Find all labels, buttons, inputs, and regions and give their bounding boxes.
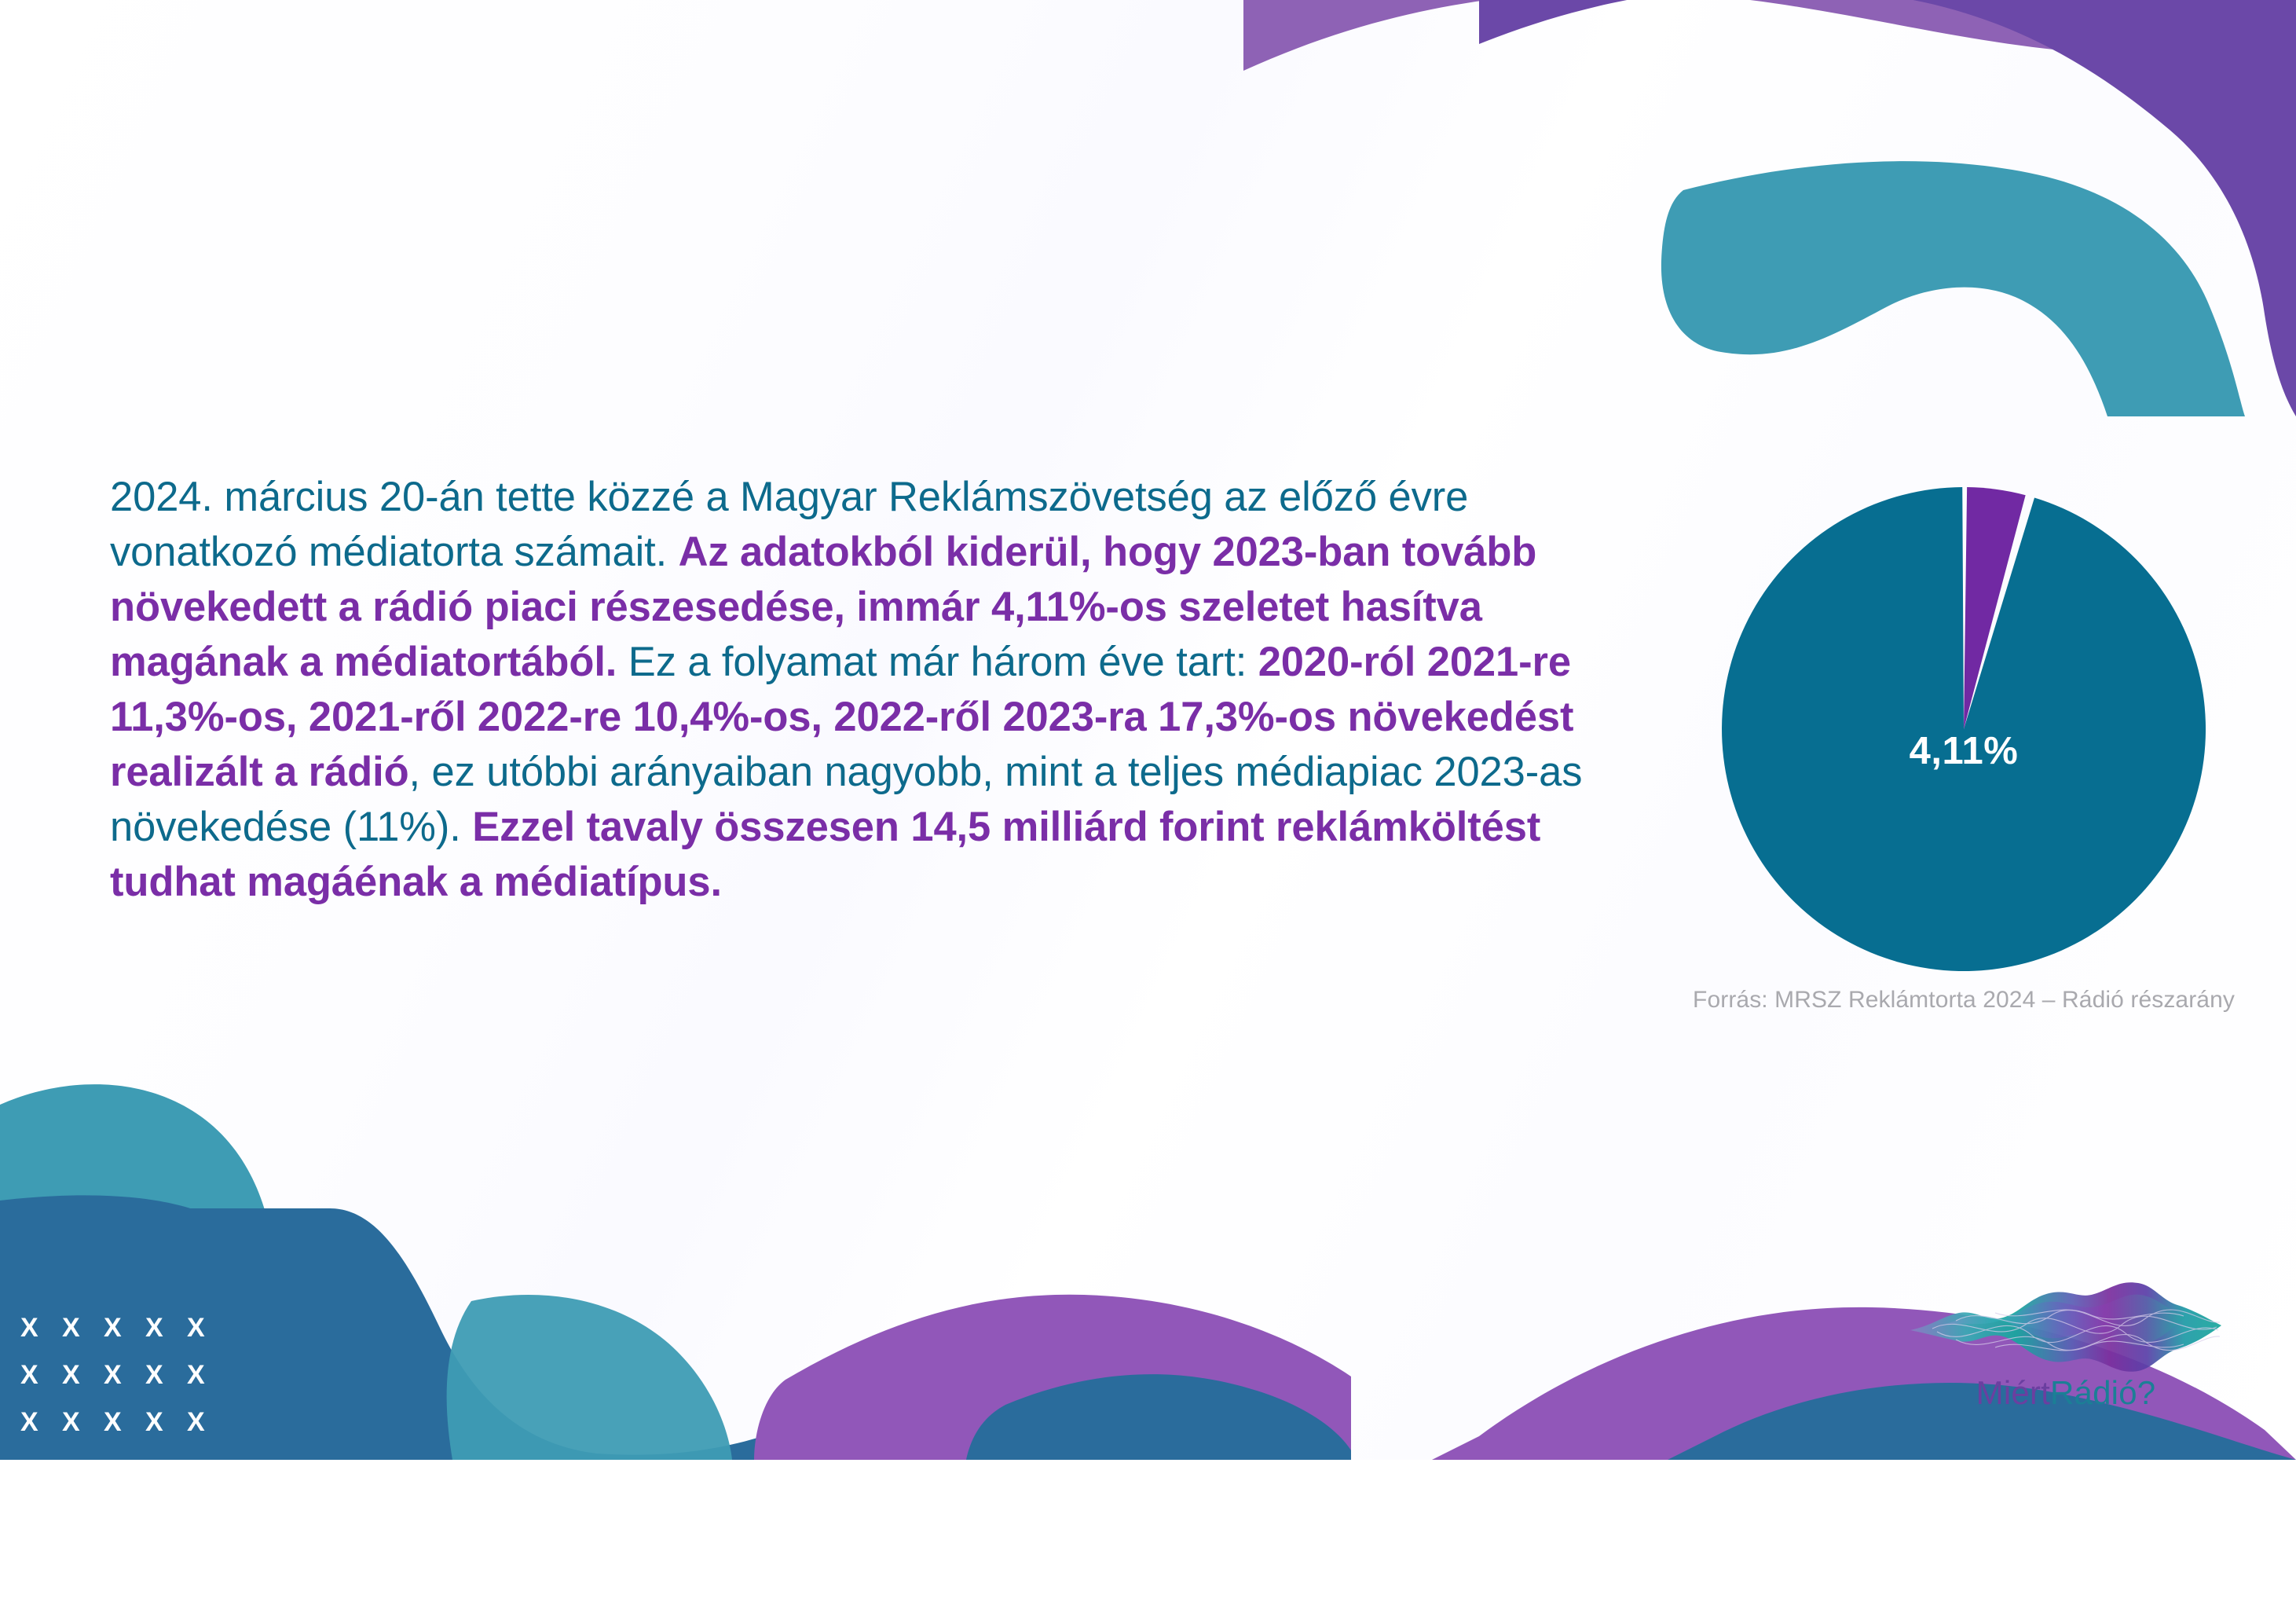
slide-canvas: X X X X X X X X X X X X X X X 2024. márc… (0, 0, 2296, 1460)
x-mark: X (62, 1399, 104, 1446)
x-mark: X (62, 1304, 104, 1351)
body-paragraph: 2024. március 20-án tette közzé a Magyar… (110, 470, 1622, 911)
decorative-wave-top-right (1243, 0, 2296, 416)
body-text-segment-2: Ez a folyamat már három éve tart: (617, 639, 1258, 685)
x-mark: X (104, 1304, 145, 1351)
x-mark: X (62, 1351, 104, 1399)
pie-chart-block: 4,11% Forrás: MRSZ Reklámtorta 2024 – Rá… (1689, 486, 2239, 1014)
x-mark: X (145, 1304, 187, 1351)
deco-shape-purple-left (236, 1244, 389, 1460)
sound-wave-icon (1909, 1277, 2223, 1380)
x-mark: X (20, 1351, 62, 1399)
logo-wordmark: MiértRádió? (1909, 1374, 2223, 1412)
x-mark: X (187, 1399, 229, 1446)
x-pattern-grid: X X X X X X X X X X X X X X X (20, 1304, 229, 1446)
deco-shape-teal (1661, 161, 2245, 416)
pie-chart: 4,11% (1720, 486, 2207, 973)
logo-word-radio: Rádió? (2050, 1374, 2155, 1411)
brand-logo[interactable]: MiértRádió? (1909, 1277, 2223, 1412)
x-mark: X (187, 1304, 229, 1351)
x-mark: X (145, 1351, 187, 1399)
x-mark: X (20, 1304, 62, 1351)
page-margin-bottom (0, 1460, 2296, 1624)
pie-value-label: 4,11% (1720, 729, 2207, 773)
chart-source-caption: Forrás: MRSZ Reklámtorta 2024 – Rádió ré… (1689, 987, 2239, 1014)
deco-shape-blue-right (966, 1374, 1351, 1460)
deco-shape-purple-right (754, 1295, 1351, 1460)
deco-shape-light-purple (1243, 0, 2296, 71)
x-mark: X (20, 1399, 62, 1446)
deco-shape-teal-bubble (447, 1295, 732, 1460)
x-mark: X (187, 1351, 229, 1399)
deco-shape-purple (1479, 0, 2296, 416)
x-mark: X (145, 1399, 187, 1446)
logo-word-miert: Miért (1976, 1374, 2050, 1411)
x-mark: X (104, 1399, 145, 1446)
x-mark: X (104, 1351, 145, 1399)
